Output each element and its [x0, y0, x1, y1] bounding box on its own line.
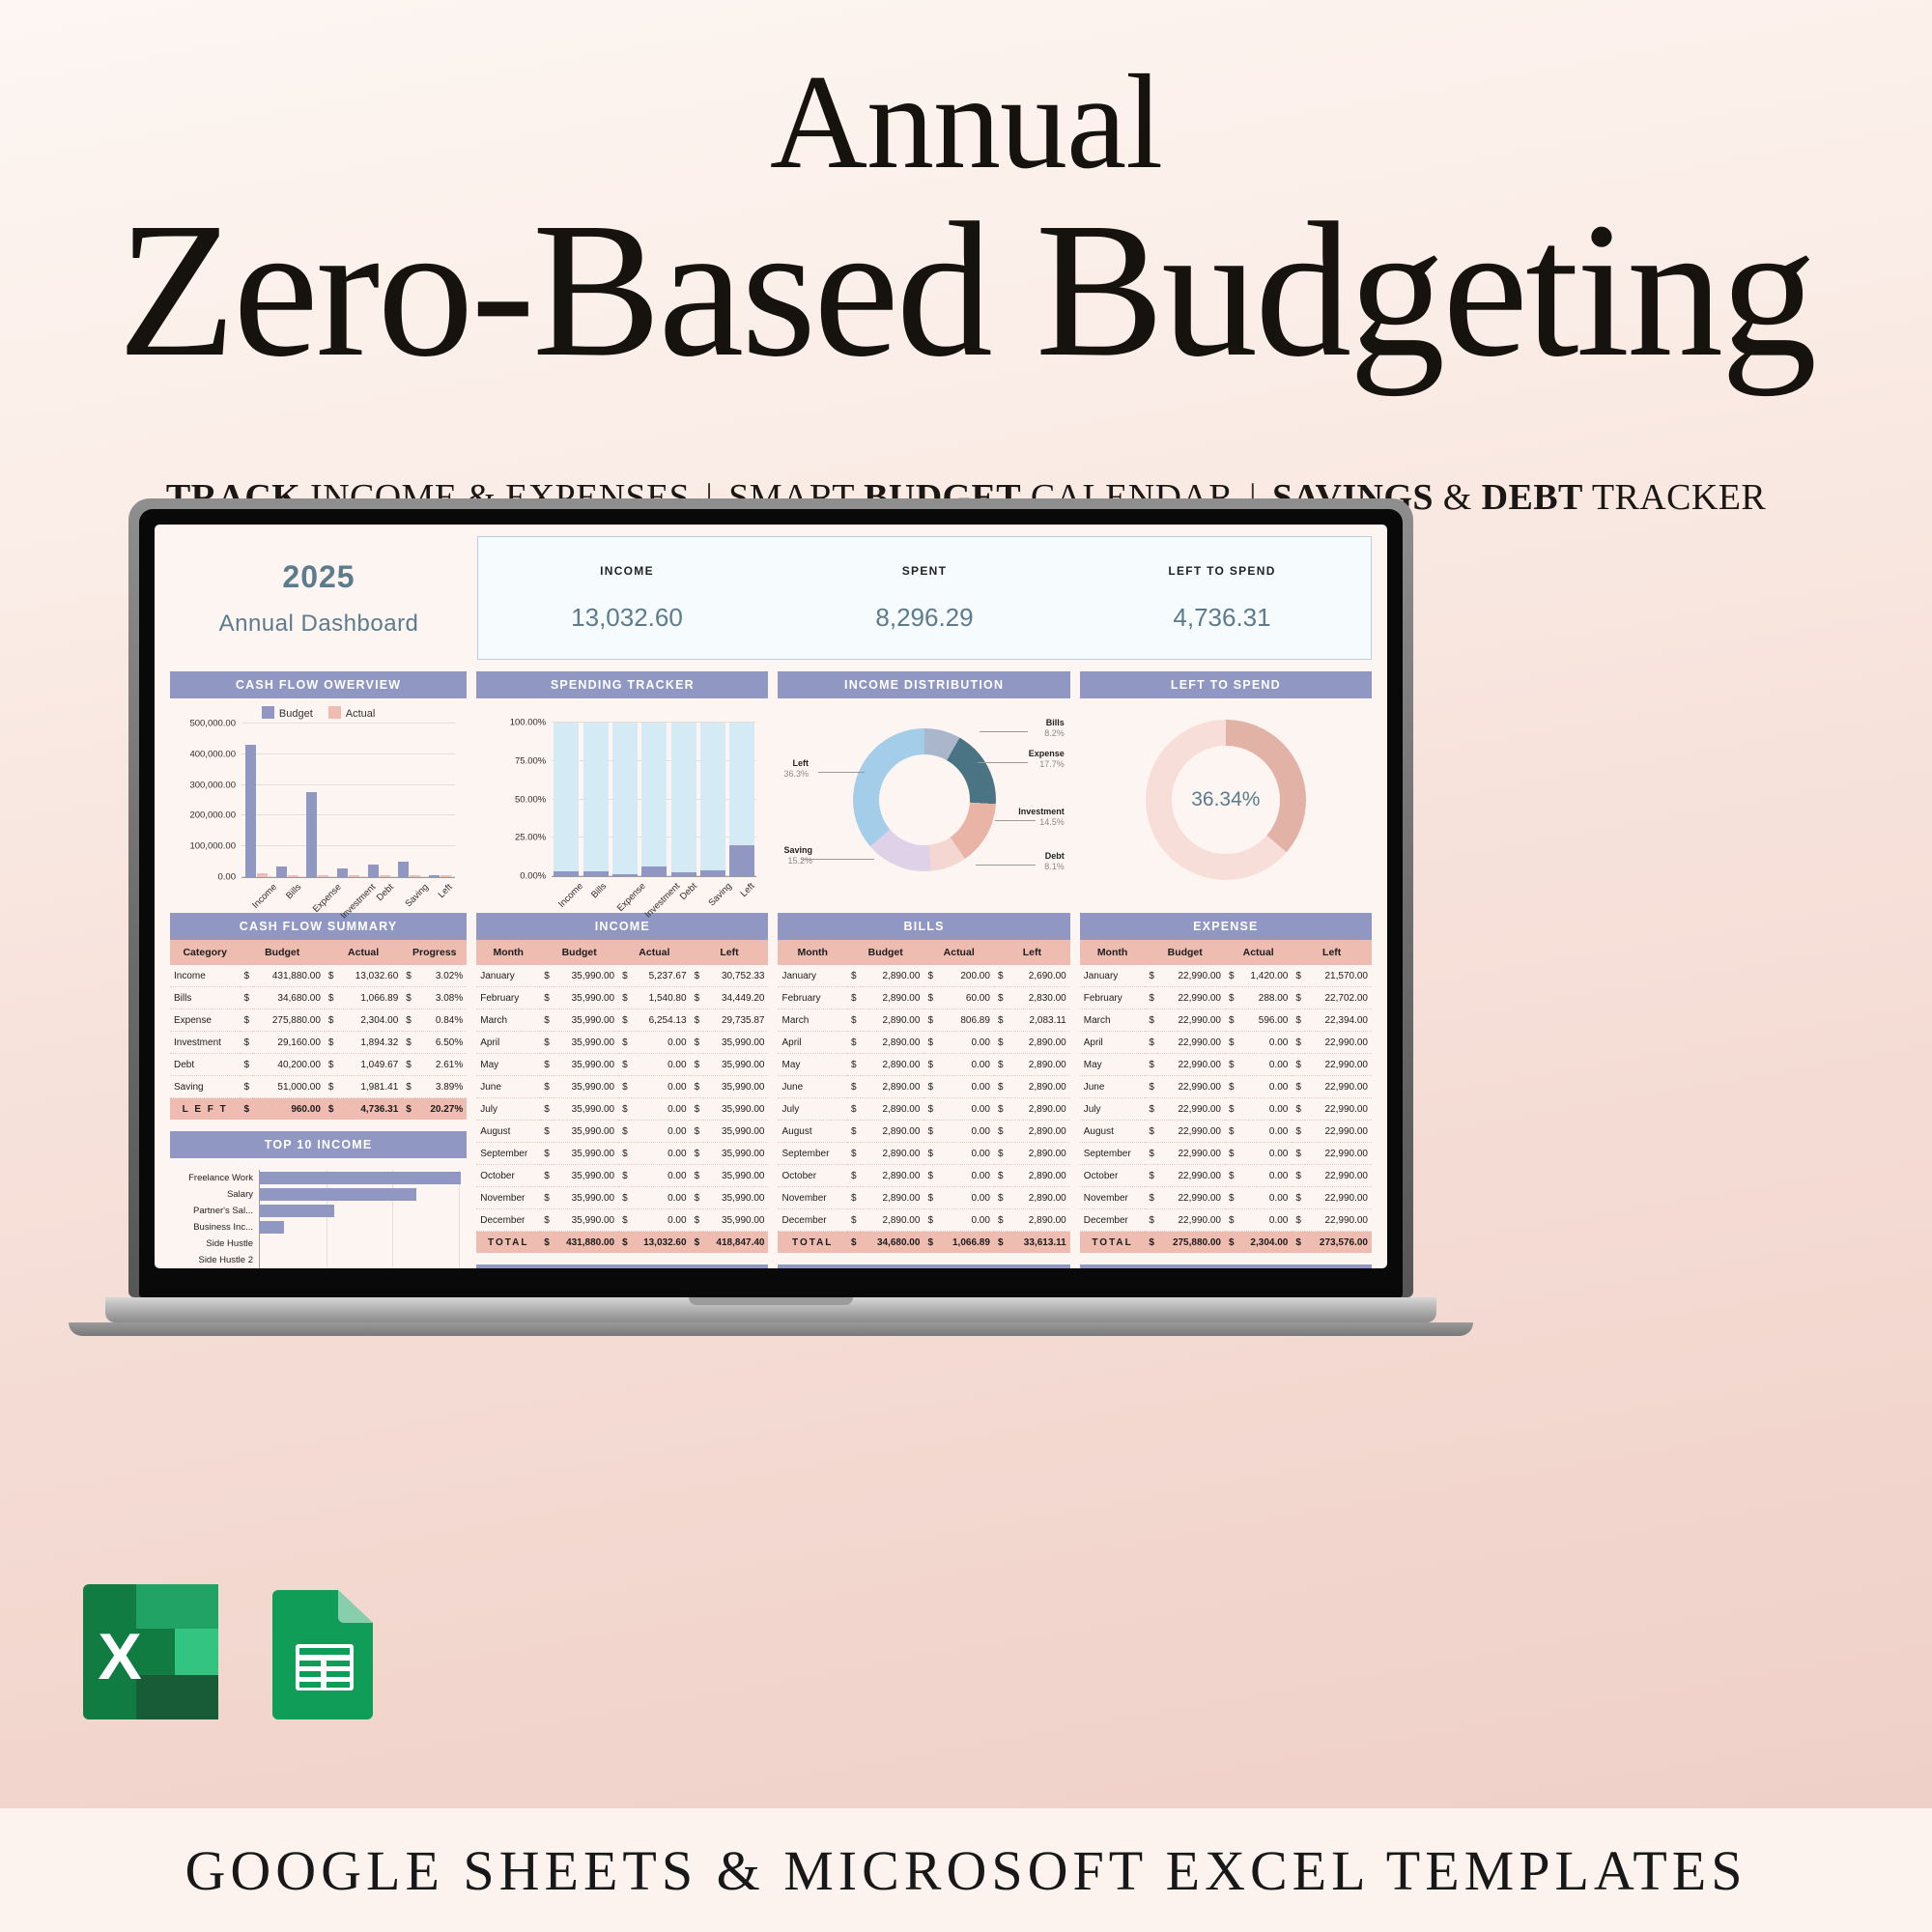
panel-left-to-spend: LEFT TO SPEND 36.34%	[1080, 660, 1372, 901]
currency-symbol: $	[1292, 1009, 1305, 1032]
table-row: March$35,990.00$6,254.13$29,735.87	[476, 1009, 768, 1032]
bar-group	[612, 723, 638, 876]
cell-value: 35,990.00	[703, 1165, 768, 1187]
page-footer: GOOGLE SHEETS & MICROSOFT EXCEL TEMPLATE…	[0, 1808, 1932, 1932]
cell-value: 22,990.00	[1305, 1165, 1372, 1187]
cell-label: April	[476, 1032, 540, 1054]
column-header: Left	[994, 940, 1070, 965]
cell-value: 0.00	[1238, 1143, 1293, 1165]
table-row: March$22,990.00$596.00$22,394.00	[1080, 1009, 1372, 1032]
legend-swatch-budget	[262, 706, 274, 719]
donut-leader-investment	[995, 820, 1036, 821]
cell-value: 22,990.00	[1305, 1143, 1372, 1165]
kpi-left-to-spend: LEFT TO SPEND 4,736.31	[1073, 564, 1371, 633]
table-row: April$22,990.00$0.00$22,990.00	[1080, 1032, 1372, 1054]
currency-symbol: $	[540, 1054, 554, 1076]
cell-value: 22,990.00	[1158, 1143, 1225, 1165]
bar-actual	[257, 873, 268, 877]
bar-group	[729, 723, 754, 876]
donut-leader-saving	[801, 859, 874, 860]
cell-label: March	[778, 1009, 846, 1032]
total-value: 273,576.00	[1305, 1232, 1372, 1254]
kpi-income-label: INCOME	[478, 564, 776, 578]
cell-label: January	[476, 965, 540, 987]
column-header: Month	[476, 940, 540, 965]
bar-spent	[583, 871, 609, 876]
currency-symbol: $	[618, 1032, 632, 1054]
cell-value: 0.00	[1238, 1165, 1293, 1187]
table-row: December$2,890.00$0.00$2,890.00	[778, 1209, 1069, 1232]
currency-symbol: $	[1145, 1209, 1158, 1232]
cash-flow-overview-title: CASH FLOW OWERVIEW	[170, 671, 467, 698]
table-header-row: CategoryBudgetActualProgress	[170, 940, 467, 965]
gridline	[327, 1236, 327, 1252]
hbar-fill	[260, 1221, 284, 1234]
currency-symbol: $	[540, 1009, 554, 1032]
cell-label: February	[778, 987, 846, 1009]
cell-label: February	[476, 987, 540, 1009]
panel-income-distribution: INCOME DISTRIBUTION Left36.3% Saving15.2…	[778, 660, 1069, 901]
bar-group	[305, 724, 330, 877]
cell-value: 22,990.00	[1158, 965, 1225, 987]
kpi-income: INCOME 13,032.60	[478, 564, 776, 633]
gridline	[459, 1252, 460, 1268]
column-header: Progress	[402, 940, 467, 965]
cell-label: July	[1080, 1098, 1146, 1121]
total-value: 34,680.00	[861, 1232, 924, 1254]
dashboard-brand: 2025 Annual Dashboard	[170, 536, 468, 660]
column-header: Category	[170, 940, 240, 965]
currency-symbol: $	[1145, 1121, 1158, 1143]
hbar-label: Freelance Work	[176, 1173, 259, 1183]
currency-symbol: $	[1225, 1187, 1238, 1209]
cell-value: 60.00	[937, 987, 994, 1009]
cell-value: 5,237.67	[632, 965, 691, 987]
hbar-label: Business Inc...	[176, 1222, 259, 1233]
currency-symbol: $	[402, 1054, 415, 1076]
cell-value: 22,990.00	[1305, 1054, 1372, 1076]
cell-label: May	[1080, 1054, 1146, 1076]
column-header: Budget	[540, 940, 618, 965]
laptop-foot	[69, 1322, 1473, 1336]
cell-label: April	[1080, 1032, 1146, 1054]
y-axis-tick: 75.00%	[515, 755, 546, 766]
currency-symbol: $	[691, 1143, 704, 1165]
cell-value: 2,890.00	[1008, 1209, 1070, 1232]
cell-value: 35,990.00	[554, 1143, 618, 1165]
currency-symbol: $	[540, 1121, 554, 1143]
hbar-track	[259, 1236, 461, 1252]
left-to-spend-center-value: 36.34%	[1080, 698, 1372, 901]
cell-value: 6,254.13	[632, 1009, 691, 1032]
y-axis-tick: 400,000.00	[189, 749, 236, 759]
total-value: 418,847.40	[703, 1232, 768, 1254]
table-row: February$2,890.00$60.00$2,830.00	[778, 987, 1069, 1009]
bar-group	[274, 724, 299, 877]
currency-symbol: $	[847, 965, 861, 987]
cell-value: 0.00	[937, 1165, 994, 1187]
total-label: TOTAL	[778, 1232, 846, 1254]
column-header: Actual	[618, 940, 690, 965]
google-sheets-icon	[269, 1584, 381, 1719]
currency-symbol: $	[618, 1076, 632, 1098]
currency-symbol: $	[691, 1165, 704, 1187]
bar-total	[554, 723, 579, 876]
hbar-row: Partner's Sal...	[176, 1203, 461, 1219]
table-total-row: TOTAL$34,680.00$1,066.89$33,613.11	[778, 1232, 1069, 1254]
currency-symbol: $	[691, 1009, 704, 1032]
hbar-row: Side Hustle	[176, 1236, 461, 1252]
donut-label-debt: Debt8.1%	[1044, 851, 1065, 873]
currency-symbol: $	[1145, 1098, 1158, 1121]
bar-actual	[410, 875, 420, 877]
total-value: 20.27%	[415, 1098, 467, 1121]
cash-flow-x-labels: IncomeBillsExpenseInvestmentDebtSavingLe…	[241, 878, 455, 923]
y-axis-tick: 300,000.00	[189, 780, 236, 790]
dashboard-top-row: 2025 Annual Dashboard INCOME 13,032.60 S…	[170, 536, 1372, 660]
currency-symbol: $	[402, 1009, 415, 1032]
bar-group	[641, 723, 667, 876]
cell-value: 35,990.00	[554, 987, 618, 1009]
cell-value: 0.00	[1238, 1121, 1293, 1143]
kpi-spent-value: 8,296.29	[776, 603, 1073, 633]
currency-symbol: $	[1292, 1165, 1305, 1187]
cell-value: 22,990.00	[1158, 1032, 1225, 1054]
table-total-row: TOTAL$275,880.00$2,304.00$273,576.00	[1080, 1232, 1372, 1254]
table-total-row: TOTAL$431,880.00$13,032.60$418,847.40	[476, 1232, 768, 1254]
currency-symbol: $	[540, 1232, 554, 1254]
cell-value: 1,049.67	[337, 1054, 402, 1076]
total-value: 1,066.89	[937, 1232, 994, 1254]
bar-group	[366, 724, 391, 877]
currency-symbol: $	[847, 1232, 861, 1254]
cell-value: 0.00	[632, 1098, 691, 1121]
cell-value: 22,990.00	[1305, 1076, 1372, 1098]
bar-group-container	[552, 723, 756, 876]
currency-symbol: $	[618, 987, 632, 1009]
kpi-column: INCOME 13,032.60 SPENT 8,296.29 LEFT TO …	[477, 536, 1372, 660]
cell-value: 2,890.00	[861, 1054, 924, 1076]
gridline	[459, 1186, 460, 1203]
table-row: October$35,990.00$0.00$35,990.00	[476, 1165, 768, 1187]
cell-value: 22,702.00	[1305, 987, 1372, 1009]
table-row: July$2,890.00$0.00$2,890.00	[778, 1098, 1069, 1121]
column-header: Budget	[847, 940, 923, 965]
currency-symbol: $	[923, 1187, 937, 1209]
subtitle-debt-bold: DEBT	[1482, 477, 1583, 518]
cell-value: 1,981.41	[337, 1076, 402, 1098]
kpi-bar: INCOME 13,032.60 SPENT 8,296.29 LEFT TO …	[477, 536, 1372, 660]
cell-value: 0.00	[632, 1054, 691, 1076]
currency-symbol: $	[240, 1054, 253, 1076]
currency-symbol: $	[1225, 1209, 1238, 1232]
column-header: Actual	[923, 940, 994, 965]
bar-actual	[288, 875, 298, 877]
cell-value: 22,990.00	[1158, 1165, 1225, 1187]
bar-budget	[276, 867, 287, 877]
currency-symbol: $	[1225, 987, 1238, 1009]
bar-spent	[641, 867, 667, 876]
donut-label-left: Left36.3%	[783, 758, 809, 781]
bar-actual	[349, 875, 359, 877]
table-row: Bills$34,680.00$1,066.89$3.08%	[170, 987, 467, 1009]
table-row: April$2,890.00$0.00$2,890.00	[778, 1032, 1069, 1054]
bar-spent	[554, 871, 579, 876]
total-value: 2,304.00	[1238, 1232, 1293, 1254]
currency-symbol: $	[540, 1187, 554, 1209]
currency-symbol: $	[618, 965, 632, 987]
currency-symbol: $	[847, 1009, 861, 1032]
currency-symbol: $	[1292, 987, 1305, 1009]
currency-symbol: $	[1225, 1165, 1238, 1187]
currency-symbol: $	[1292, 1076, 1305, 1098]
currency-symbol: $	[691, 1098, 704, 1121]
gridline	[459, 1219, 460, 1236]
cash-flow-overview-chart: Budget Actual 0.00100,000.00200,000.0030…	[170, 698, 467, 901]
cell-label: May	[476, 1054, 540, 1076]
cell-label: November	[1080, 1187, 1146, 1209]
currency-symbol: $	[240, 1098, 253, 1121]
cell-value: 22,990.00	[1158, 1054, 1225, 1076]
cell-value: 2,890.00	[861, 1076, 924, 1098]
bar-group	[554, 723, 579, 876]
cell-value: 34,449.20	[703, 987, 768, 1009]
currency-symbol: $	[540, 1143, 554, 1165]
spending-tracker-chart: x 0.00%25.00%50.00%75.00%100.00% IncomeB…	[476, 698, 768, 901]
dashboard-name: Annual Dashboard	[219, 611, 419, 638]
y-axis-tick: 0.00%	[520, 871, 546, 882]
currency-symbol: $	[240, 965, 253, 987]
svg-text:X: X	[98, 1620, 141, 1693]
cell-value: 40,200.00	[253, 1054, 325, 1076]
currency-symbol: $	[923, 1165, 937, 1187]
table-header-row: MonthBudgetActualLeft	[1080, 940, 1372, 965]
table-row: June$22,990.00$0.00$22,990.00	[1080, 1076, 1372, 1098]
laptop-base	[105, 1297, 1436, 1322]
table-row: October$22,990.00$0.00$22,990.00	[1080, 1165, 1372, 1187]
cell-value: 35,990.00	[554, 1076, 618, 1098]
currency-symbol: $	[923, 1032, 937, 1054]
bar-spent	[612, 874, 638, 876]
page-title-line2: Zero-Based Budgeting	[0, 188, 1932, 393]
cell-value: 0.00	[937, 1143, 994, 1165]
currency-symbol: $	[240, 987, 253, 1009]
table-row: May$2,890.00$0.00$2,890.00	[778, 1054, 1069, 1076]
cell-value: 29,735.87	[703, 1009, 768, 1032]
bar-budget	[245, 745, 256, 877]
cell-label: January	[1080, 965, 1146, 987]
cell-value: 22,990.00	[1158, 1121, 1225, 1143]
cell-value: 0.00	[1238, 1032, 1293, 1054]
currency-symbol: $	[1145, 1165, 1158, 1187]
table-row: September$22,990.00$0.00$22,990.00	[1080, 1143, 1372, 1165]
currency-symbol: $	[618, 1187, 632, 1209]
cell-value: 35,990.00	[554, 965, 618, 987]
top-10-income-title: TOP 10 INCOME	[170, 1131, 467, 1158]
cell-value: 806.89	[937, 1009, 994, 1032]
cell-value: 2,083.11	[1008, 1009, 1070, 1032]
cell-value: 2,890.00	[861, 1032, 924, 1054]
cell-value: 0.00	[632, 1032, 691, 1054]
currency-symbol: $	[847, 1209, 861, 1232]
currency-symbol: $	[1292, 1121, 1305, 1143]
currency-symbol: $	[994, 1009, 1008, 1032]
currency-symbol: $	[923, 1121, 937, 1143]
currency-symbol: $	[1225, 1098, 1238, 1121]
currency-symbol: $	[691, 1032, 704, 1054]
bar-spent	[671, 872, 696, 876]
currency-symbol: $	[1145, 1232, 1158, 1254]
currency-symbol: $	[923, 1054, 937, 1076]
table-row: June$2,890.00$0.00$2,890.00	[778, 1076, 1069, 1098]
cell-label: Income	[170, 965, 240, 987]
table-row: September$35,990.00$0.00$35,990.00	[476, 1143, 768, 1165]
currency-symbol: $	[1225, 1054, 1238, 1076]
total-label: TOTAL	[1080, 1232, 1146, 1254]
kpi-income-value: 13,032.60	[478, 603, 776, 633]
gridline	[392, 1203, 393, 1219]
cell-value: 22,990.00	[1158, 987, 1225, 1009]
currency-symbol: $	[994, 1121, 1008, 1143]
currency-symbol: $	[1145, 965, 1158, 987]
currency-symbol: $	[847, 1187, 861, 1209]
currency-symbol: $	[994, 1143, 1008, 1165]
currency-symbol: $	[847, 1032, 861, 1054]
currency-symbol: $	[847, 987, 861, 1009]
table-row: August$22,990.00$0.00$22,990.00	[1080, 1121, 1372, 1143]
currency-symbol: $	[994, 987, 1008, 1009]
cell-label: December	[476, 1209, 540, 1232]
kpi-left-label: LEFT TO SPEND	[1073, 564, 1371, 578]
bar-total	[612, 723, 638, 876]
cell-value: 2,690.00	[1008, 965, 1070, 987]
column-header: Actual	[1225, 940, 1292, 965]
cell-value: 2,890.00	[1008, 1054, 1070, 1076]
currency-symbol: $	[994, 965, 1008, 987]
y-axis-tick: 500,000.00	[189, 719, 236, 729]
legend-label-budget: Budget	[279, 708, 313, 720]
currency-symbol: $	[618, 1165, 632, 1187]
table-row: December$35,990.00$0.00$35,990.00	[476, 1209, 768, 1232]
cell-value: 2.61%	[415, 1054, 467, 1076]
page-header: Annual Zero-Based Budgeting TRACK INCOME…	[0, 0, 1932, 519]
cell-value: 0.00	[937, 1076, 994, 1098]
cell-value: 200.00	[937, 965, 994, 987]
cell-value: 35,990.00	[703, 1187, 768, 1209]
cell-value: 0.00	[632, 1209, 691, 1232]
cell-value: 35,990.00	[703, 1121, 768, 1143]
cell-value: 51,000.00	[253, 1076, 325, 1098]
cell-value: 2,830.00	[1008, 987, 1070, 1009]
table-row: November$2,890.00$0.00$2,890.00	[778, 1187, 1069, 1209]
cell-value: 2,890.00	[861, 965, 924, 987]
cell-value: 1,420.00	[1238, 965, 1293, 987]
hbar-label: Partner's Sal...	[176, 1206, 259, 1216]
table-row: Expense$275,880.00$2,304.00$0.84%	[170, 1009, 467, 1032]
table-row: Investment$29,160.00$1,894.32$6.50%	[170, 1032, 467, 1054]
bills-table: MonthBudgetActualLeftJanuary$2,890.00$20…	[778, 940, 1069, 1253]
cell-value: 2,890.00	[861, 1143, 924, 1165]
cell-value: 2,890.00	[861, 1187, 924, 1209]
table-row: Saving$51,000.00$1,981.41$3.89%	[170, 1076, 467, 1098]
table-row: August$35,990.00$0.00$35,990.00	[476, 1121, 768, 1143]
cell-label: December	[778, 1209, 846, 1232]
cell-value: 2,890.00	[1008, 1076, 1070, 1098]
currency-symbol: $	[618, 1098, 632, 1121]
currency-symbol: $	[402, 1098, 415, 1121]
currency-symbol: $	[923, 1209, 937, 1232]
currency-symbol: $	[691, 987, 704, 1009]
cell-value: 0.00	[937, 1187, 994, 1209]
cell-label: May	[778, 1054, 846, 1076]
legend-item-actual: Actual	[328, 706, 376, 720]
hbar-row: Side Hustle 2	[176, 1252, 461, 1268]
currency-symbol: $	[847, 1098, 861, 1121]
hbar-track	[259, 1170, 461, 1186]
cell-label: Investment	[170, 1032, 240, 1054]
cell-value: 0.00	[1238, 1076, 1293, 1098]
currency-symbol: $	[618, 1054, 632, 1076]
hbar-row: Business Inc...	[176, 1219, 461, 1236]
donut-leader-bills	[980, 731, 1028, 732]
currency-symbol: $	[402, 987, 415, 1009]
hbar-fill	[260, 1205, 334, 1217]
currency-symbol: $	[618, 1232, 632, 1254]
currency-symbol: $	[1292, 1143, 1305, 1165]
column-header: Month	[1080, 940, 1146, 965]
cell-label: Saving	[170, 1076, 240, 1098]
currency-symbol: $	[540, 1098, 554, 1121]
table-row: July$22,990.00$0.00$22,990.00	[1080, 1098, 1372, 1121]
currency-symbol: $	[540, 1165, 554, 1187]
cell-value: 6.50%	[415, 1032, 467, 1054]
currency-symbol: $	[691, 1054, 704, 1076]
currency-symbol: $	[540, 965, 554, 987]
currency-symbol: $	[994, 1098, 1008, 1121]
cell-value: 21,570.00	[1305, 965, 1372, 987]
total-value: 4,736.31	[337, 1098, 402, 1121]
cell-label: September	[778, 1143, 846, 1165]
currency-symbol: $	[240, 1032, 253, 1054]
left-to-spend-title: LEFT TO SPEND	[1080, 671, 1372, 698]
cell-value: 2,890.00	[861, 1121, 924, 1143]
table-row: February$22,990.00$288.00$22,702.00	[1080, 987, 1372, 1009]
legend-swatch-actual	[328, 706, 341, 719]
cash-flow-plot-area: 0.00100,000.00200,000.00300,000.00400,00…	[241, 724, 455, 878]
gridline	[392, 1219, 393, 1236]
cell-value: 2,890.00	[861, 1209, 924, 1232]
cell-value: 0.00	[1238, 1187, 1293, 1209]
bar-spent	[729, 845, 754, 876]
table-row: January$35,990.00$5,237.67$30,752.33	[476, 965, 768, 987]
cell-label: November	[476, 1187, 540, 1209]
currency-symbol: $	[402, 1032, 415, 1054]
currency-symbol: $	[1225, 1143, 1238, 1165]
donut-leader-left	[818, 772, 865, 773]
cell-value: 2,890.00	[1008, 1187, 1070, 1209]
bar-total	[583, 723, 609, 876]
total-label: L E F T	[170, 1098, 240, 1121]
left-to-spend-chart: 36.34%	[1080, 698, 1372, 901]
cell-value: 35,990.00	[703, 1076, 768, 1098]
cell-label: October	[1080, 1165, 1146, 1187]
currency-symbol: $	[325, 987, 338, 1009]
column-header: Budget	[240, 940, 324, 965]
spending-tracker-x-labels: IncomeBillsExpenseInvestmentDebtSavingLe…	[548, 877, 756, 922]
currency-symbol: $	[325, 1054, 338, 1076]
bar-group	[244, 724, 270, 877]
hbar-label: Side Hustle 2	[176, 1255, 259, 1265]
